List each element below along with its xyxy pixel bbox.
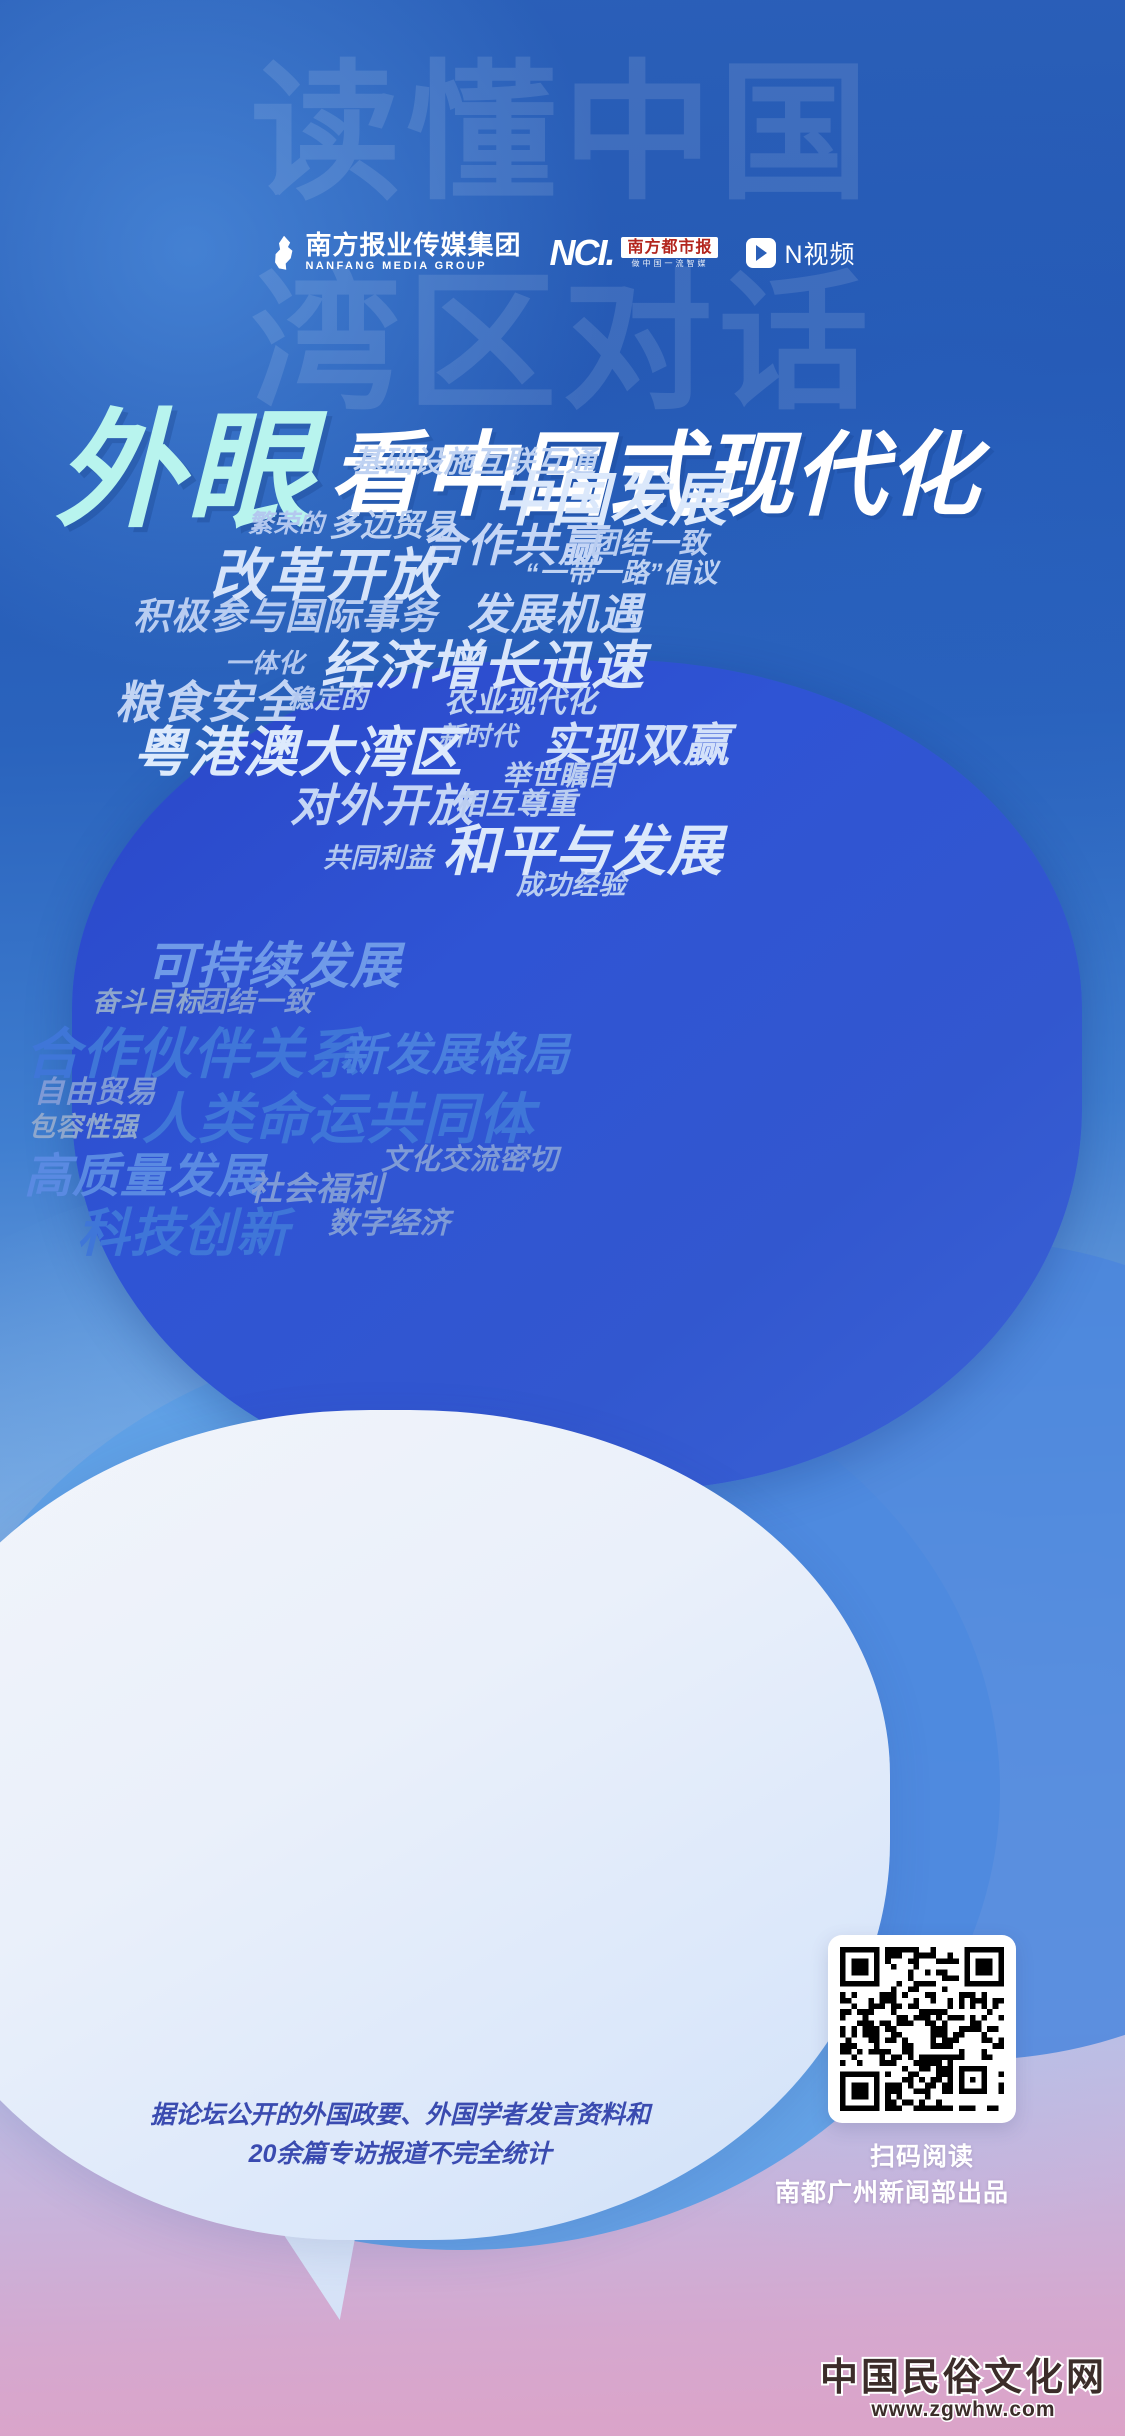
qr-code-image[interactable] [840,1947,1004,2111]
wordcloud-word: 新发展格局 [340,1032,570,1077]
qr-caption-line-2: 南都广州新闻部出品 [768,2175,1016,2211]
nandu-wordmark: NCI. [549,235,613,271]
logo-nandu: NCI. 南方都市报 做中国一流智媒 [549,235,718,271]
nandu-cn-badge: 南方都市报 [621,237,718,259]
poster-root: 读懂中国 湾区对话 南方报业传媒集团 NANFANG MEDIA GROUP N… [0,0,1125,2436]
wordcloud-word: 相互尊重 [455,790,577,820]
wordcloud-word: 科技创新 [77,1208,289,1260]
footnote-line-2: 20余篇专访报道不完全统计 [90,2135,710,2174]
wordcloud-word: 奋斗目标 [92,989,202,1016]
wordcloud-word: 人类命运共同体 [142,1092,534,1147]
wordcloud-word: 发展机遇 [467,594,643,637]
wordcloud-word: 文化交流密切 [381,1146,558,1175]
wordcloud-word: 高质量发展 [24,1152,264,1199]
wordcloud-word: 合作伙伴关系 [25,1027,361,1082]
qr-caption: 扫码阅读 南都广州新闻部出品 [828,2139,1016,2212]
qr-caption-line-1: 扫码阅读 [828,2139,1016,2175]
wordcloud-word: 团结一致 [590,530,708,559]
wordcloud-word: 积极参与国际事务 [133,598,437,635]
qr-card[interactable] [828,1935,1016,2123]
wordcloud-word: “一带一路”倡议 [525,560,718,587]
wordcloud-word: 可持续发展 [146,941,401,991]
site-watermark: 中国民俗文化网 www.zgwhw.com [820,2358,1107,2422]
logo-nanfang-media-group: 南方报业传媒集团 NANFANG MEDIA GROUP [269,232,521,274]
nanfang-cn-label: 南方报业传媒集团 [305,232,521,259]
nanfang-en-label: NANFANG MEDIA GROUP [305,259,521,273]
wordcloud-word: 农业现代化 [444,688,597,718]
wordcloud-word: 包容性强 [28,1114,138,1141]
wordcloud-word: 粤港澳大湾区 [133,726,463,780]
footnote: 据论坛公开的外国政要、外国学者发言资料和 20余篇专访报道不完全统计 [90,2096,710,2174]
wordcloud-word: 数字经济 [328,1209,450,1239]
flame-icon [269,236,297,270]
footnote-line-1: 据论坛公开的外国政要、外国学者发言资料和 [90,2096,710,2135]
play-icon [746,238,776,268]
wordcloud-word: 繁荣的 [248,512,325,537]
wordcloud-word: 社会福利 [249,1172,383,1205]
wordcloud-word: 自由贸易 [34,1078,156,1108]
watermark-line-1: 读懂中国 [0,58,1125,208]
wordcloud-word: 粮食安全 [115,680,299,725]
wordcloud-word: 成功经验 [516,872,626,899]
nandu-tagline: 做中国一流智媒 [631,260,708,269]
wordcloud-word: 共同利益 [323,845,433,872]
site-watermark-name: 中国民俗文化网 [820,2358,1107,2396]
wordcloud-word: 团结一致 [198,988,312,1016]
qr-block: 扫码阅读 南都广州新闻部出品 [828,1935,1016,2212]
watermark-line-2: 湾区对话 [0,268,1125,418]
site-watermark-url: www.zgwhw.com [820,2398,1107,2422]
n-video-label: N视频 [784,235,855,271]
wordcloud-word: 举世瞩目 [502,762,616,790]
wordcloud-word: 一体化 [225,650,305,676]
logo-n-video: N视频 [746,235,855,271]
logo-bar: 南方报业传媒集团 NANFANG MEDIA GROUP NCI. 南方都市报 … [0,232,1125,274]
wordcloud-word: 稳定的 [288,686,368,712]
